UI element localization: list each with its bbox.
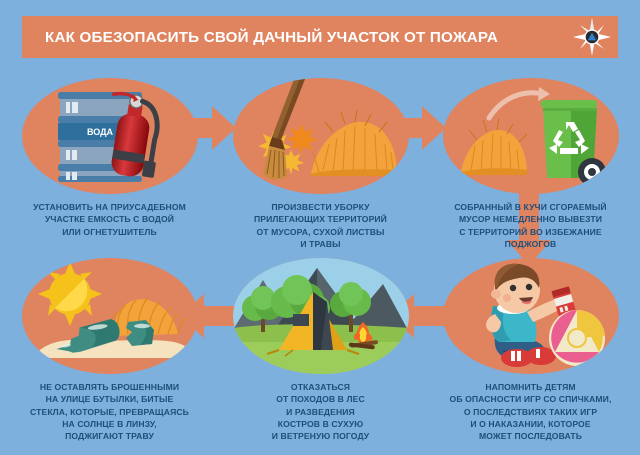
step-panel-3: СОБРАННЫЙ В КУЧИ СГОРАЕМЫЙ МУСОР НЕМЕДЛЕ… bbox=[424, 78, 637, 250]
step-2-illustration-frame bbox=[233, 78, 409, 194]
emercom-star-emblem-icon bbox=[572, 17, 612, 57]
step-panel-4: НАПОМНИТЬ ДЕТЯМ ОБ ОПАСНОСТИ ИГР СО СПИЧ… bbox=[424, 258, 637, 442]
boy-with-matchbox-and-ball-icon bbox=[443, 258, 619, 374]
step-3-caption: СОБРАННЫЙ В КУЧИ СГОРАЕМЫЙ МУСОР НЕМЕДЛЕ… bbox=[424, 201, 637, 250]
page-title: КАК ОБЕЗОПАСИТЬ СВОЙ ДАЧНЫЙ УЧАСТОК ОТ П… bbox=[45, 29, 498, 46]
broom-leaves-and-hay-pile-icon bbox=[233, 78, 409, 194]
step-panel-6: НЕ ОСТАВЛЯТЬ БРОШЕННЫМИ НА УЛИЦЕ БУТЫЛКИ… bbox=[3, 258, 216, 442]
camping-tent-with-campfire-icon bbox=[233, 258, 409, 374]
step-1-caption: УСТАНОВИТЬ НА ПРИУСАДЕБНОМ УЧАСТКЕ ЕМКОС… bbox=[3, 201, 216, 238]
step-panel-2: ПРОИЗВЕСТИ УБОРКУ ПРИЛЕГАЮЩИХ ТЕРРИТОРИЙ… bbox=[214, 78, 427, 250]
step-panel-5: ОТКАЗАТЬСЯ ОТ ПОХОДОВ В ЛЕС И РАЗВЕДЕНИЯ… bbox=[214, 258, 427, 442]
step-5-illustration-frame bbox=[233, 258, 409, 374]
step-6-caption: НЕ ОСТАВЛЯТЬ БРОШЕННЫМИ НА УЛИЦЕ БУТЫЛКИ… bbox=[3, 381, 216, 442]
water-barrel-and-fire-extinguisher-icon: ВОДА bbox=[22, 78, 198, 194]
infographic-poster: КАК ОБЕЗОПАСИТЬ СВОЙ ДАЧНЫЙ УЧАСТОК ОТ П… bbox=[0, 0, 640, 455]
title-bar: КАК ОБЕЗОПАСИТЬ СВОЙ ДАЧНЫЙ УЧАСТОК ОТ П… bbox=[22, 16, 618, 58]
step-panel-1: ВОДА bbox=[3, 78, 216, 238]
step-3-illustration-frame bbox=[443, 78, 619, 194]
step-5-caption: ОТКАЗАТЬСЯ ОТ ПОХОДОВ В ЛЕС И РАЗВЕДЕНИЯ… bbox=[214, 381, 427, 442]
hay-pile-and-recycling-bin-icon bbox=[443, 78, 619, 194]
barrel-label: ВОДА bbox=[86, 127, 113, 137]
step-2-caption: ПРОИЗВЕСТИ УБОРКУ ПРИЛЕГАЮЩИХ ТЕРРИТОРИЙ… bbox=[214, 201, 427, 250]
step-6-illustration-frame bbox=[22, 258, 198, 374]
step-1-illustration-frame: ВОДА bbox=[22, 78, 198, 194]
sun-with-broken-bottles-icon bbox=[22, 258, 198, 374]
step-4-illustration-frame bbox=[443, 258, 619, 374]
step-4-caption: НАПОМНИТЬ ДЕТЯМ ОБ ОПАСНОСТИ ИГР СО СПИЧ… bbox=[424, 381, 637, 442]
